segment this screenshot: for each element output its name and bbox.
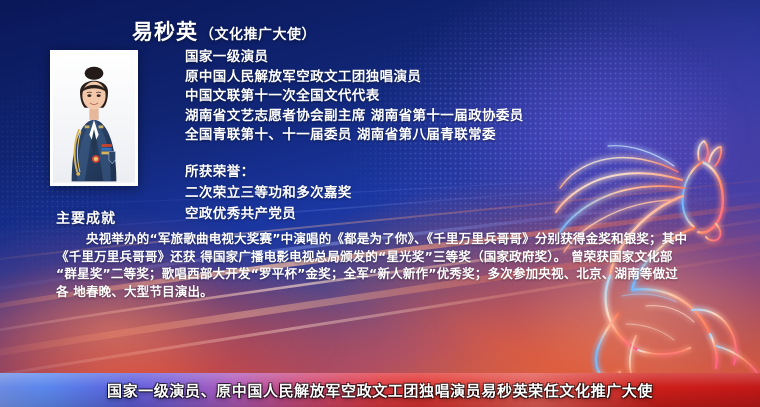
portrait-photo bbox=[53, 53, 135, 183]
honors-line: 空政优秀共产党员 bbox=[185, 204, 725, 225]
caption-bar: 国家一级演员、原中国人民解放军空政文工团独唱演员易秒英荣任文化推广大使 bbox=[0, 373, 760, 407]
achievements-line: “群星奖”二等奖；歌唱西部大开发“罗平杯”金奖；全军“新人新作”优秀奖；多次参加… bbox=[56, 265, 704, 283]
bio-line: 全国青联第十、十一届委员 湖南省第八届青联常委 bbox=[185, 126, 725, 146]
presentation-slide: 易秒英（文化推广大使） 国家一级演员 原中国人民解放军空政文工团独唱演员 中国文… bbox=[0, 0, 760, 407]
person-role: （文化推广大使） bbox=[200, 27, 316, 43]
bio-list: 国家一级演员 原中国人民解放军空政文工团独唱演员 中国文联第十一次全国文代代表 … bbox=[185, 48, 725, 146]
honors-section: 所获荣誉： 二次荣立三等功和多次嘉奖 空政优秀共产党员 bbox=[185, 162, 725, 225]
honors-title: 所获荣誉： bbox=[185, 162, 725, 183]
bio-line: 湖南省文艺志愿者协会副主席 湖南省第十一届政协委员 bbox=[185, 107, 725, 127]
honors-line: 二次荣立三等功和多次嘉奖 bbox=[185, 183, 725, 204]
achievements-heading: 主要成就 bbox=[56, 208, 116, 228]
achievements-body: 央视举办的“军旅歌曲电视大奖赛”中演唱的《都是为了你》、《千里万里兵哥哥》分别获… bbox=[56, 230, 704, 300]
page-title: 易秒英（文化推广大使） bbox=[132, 16, 316, 46]
portrait-frame bbox=[50, 50, 138, 186]
achievements-line: 《千里万里兵哥哥》还获 得国家广播电影电视总局颁发的“星光奖”三等奖（国家政府奖… bbox=[56, 248, 704, 266]
person-name: 易秒英 bbox=[132, 20, 198, 44]
bio-line: 中国文联第十一次全国文代代表 bbox=[185, 87, 725, 107]
achievements-line: 各 地春晚、大型节目演出。 bbox=[56, 283, 704, 301]
caption-text: 国家一级演员、原中国人民解放军空政文工团独唱演员易秒英荣任文化推广大使 bbox=[0, 373, 760, 407]
bio-line: 原中国人民解放军空政文工团独唱演员 bbox=[185, 68, 725, 88]
bio-line: 国家一级演员 bbox=[185, 48, 725, 68]
achievements-line: 央视举办的“军旅歌曲电视大奖赛”中演唱的《都是为了你》、《千里万里兵哥哥》分别获… bbox=[56, 230, 704, 248]
